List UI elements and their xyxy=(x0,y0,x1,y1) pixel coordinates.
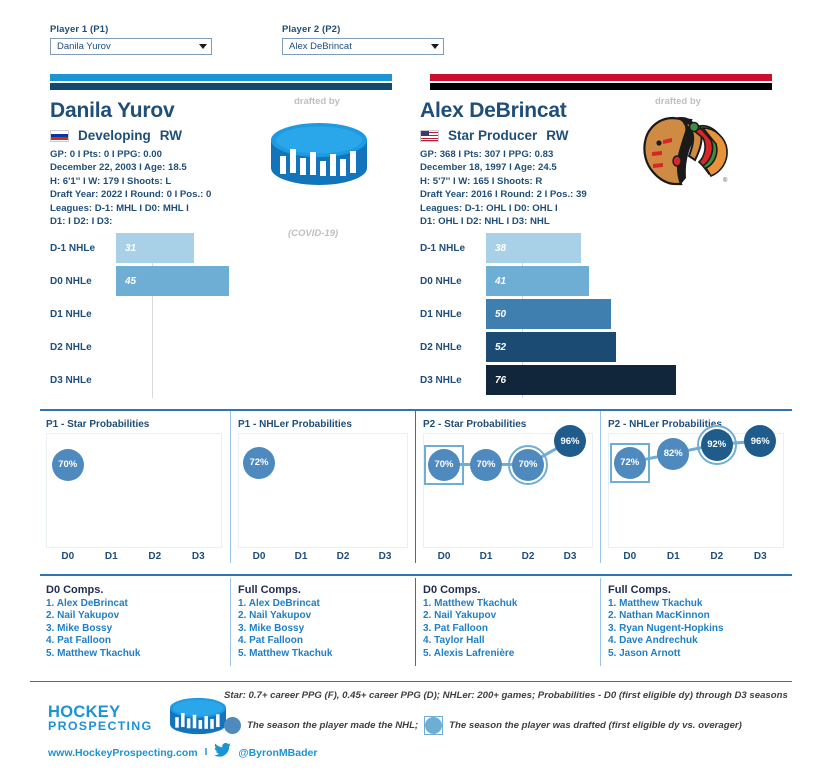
panel-divider xyxy=(230,411,231,563)
comps-column: Full Comps.1. Matthew Tkachuk2. Nathan M… xyxy=(608,584,784,660)
axis-tick-label: D1 xyxy=(465,551,507,562)
player-1-gp-line: GP: 0 I Pts: 0 I PPG: 0.00 xyxy=(50,148,211,161)
prob-panel-title: P1 - NHLer Probabilities xyxy=(238,419,352,430)
nhle-bar-label: D-1 NHLe xyxy=(50,243,116,254)
marker-legend: The season the player made the NHL; The … xyxy=(224,716,742,735)
nhle-bar-value: 76 xyxy=(486,375,506,386)
player-2-label: Player 2 (P2) xyxy=(282,24,444,35)
nhle-bar-row: D0 NHLe45 xyxy=(50,266,380,296)
panel-divider-main xyxy=(415,411,416,563)
comps-heading: D0 Comps. xyxy=(423,584,593,596)
axis-tick-label: D2 xyxy=(695,551,739,562)
player-2-select-value: Alex DeBrincat xyxy=(289,41,352,52)
player-2-leagues-line-2: D1: OHL I D2: NHL I D3: NHL xyxy=(420,215,587,228)
player-1-status-badge: Developing xyxy=(78,128,151,143)
nhle-bar: 38 xyxy=(486,233,581,263)
chicago-blackhawks-logo-icon: ® xyxy=(633,112,733,199)
nhle-bar-track xyxy=(116,365,380,395)
player-2-stats: GP: 368 I Pts: 307 I PPG: 0.83 December … xyxy=(420,148,587,228)
axis-tick-label: D3 xyxy=(177,551,221,562)
comps-list-item[interactable]: 2. Nathan MacKinnon xyxy=(608,610,784,622)
nhle-bar-row: D1 NHLe50 xyxy=(420,299,760,329)
player-2-leagues-line-1: Leagues: D-1: OHL I D0: OHL I xyxy=(420,202,587,215)
nhle-bar-track xyxy=(116,299,380,329)
prob-marker[interactable]: 70% xyxy=(512,449,544,481)
comps-divider xyxy=(230,578,231,666)
team-color-bars xyxy=(50,74,772,90)
comps-list-item[interactable]: 1. Matthew Tkachuk xyxy=(423,598,593,610)
player-2-selector-block: Player 2 (P2) Alex DeBrincat xyxy=(282,24,444,55)
nhle-bar-value: 50 xyxy=(486,309,506,320)
nhle-bar-track: 50 xyxy=(486,299,760,329)
nhle-bar-value: 45 xyxy=(116,276,136,287)
player-2-nhle-chart: D-1 NHLe38D0 NHLe41D1 NHLe50D2 NHLe52D3 … xyxy=(420,233,760,398)
nhle-bar-label: D0 NHLe xyxy=(50,276,116,287)
player-1-draft-line: Draft Year: 2022 I Round: 0 I Pos.: 0 xyxy=(50,188,211,201)
footer-rule xyxy=(30,681,792,682)
player-2-birth-line: December 18, 1997 I Age: 24.5 xyxy=(420,161,587,174)
nhle-bar-row: D2 NHLe52 xyxy=(420,332,760,362)
prob-marker[interactable]: 72% xyxy=(243,447,275,479)
nhle-bar-track: 41 xyxy=(486,266,760,296)
nhle-bar: 45 xyxy=(116,266,229,296)
comps-list-item[interactable]: 3. Mike Bossy xyxy=(238,623,408,635)
axis-tick-label: D0 xyxy=(238,551,280,562)
comps-column: Full Comps.1. Alex DeBrincat2. Nail Yaku… xyxy=(238,584,408,660)
player-1-name: Danila Yurov xyxy=(50,100,211,121)
player-1-label: Player 1 (P1) xyxy=(50,24,212,35)
player-1-select[interactable]: Danila Yurov xyxy=(50,38,212,55)
comps-list-item[interactable]: 4. Dave Andrechuk xyxy=(608,635,784,647)
axis-tick-label: D1 xyxy=(652,551,696,562)
comps-list-item[interactable]: 3. Ryan Nugent-Hopkins xyxy=(608,623,784,635)
player-1-leagues-line-1: Leagues: D-1: MHL I D0: MHL I xyxy=(50,202,211,215)
player-1-leagues-line-2: D1: I D2: I D3: xyxy=(50,215,211,228)
logo-line-2: PROSPECTING xyxy=(48,720,153,733)
nhle-bar-row: D3 NHLe76 xyxy=(420,365,760,395)
nhle-bar-track: 76 xyxy=(486,365,760,395)
nhle-bar-label: D1 NHLe xyxy=(420,309,486,320)
player-2-team-colorbar xyxy=(430,74,772,90)
chevron-down-icon xyxy=(199,44,207,49)
svg-text:®: ® xyxy=(723,177,728,184)
prob-marker[interactable]: 96% xyxy=(554,425,586,457)
nhle-bar-label: D0 NHLe xyxy=(420,276,486,287)
comps-divider xyxy=(600,578,601,666)
player-1-nhle-chart: D-1 NHLe31D0 NHLe45D1 NHLeD2 NHLeD3 NHLe xyxy=(50,233,380,398)
twitter-icon xyxy=(214,743,231,762)
nhle-bar-value: 38 xyxy=(486,243,506,254)
player-2-select[interactable]: Alex DeBrincat xyxy=(282,38,444,55)
player-1-tag-row: Developing RW xyxy=(50,128,211,143)
prob-marker[interactable]: 70% xyxy=(428,449,460,481)
comps-list-item[interactable]: 4. Pat Falloon xyxy=(238,635,408,647)
player-1-stats: GP: 0 I Pts: 0 I PPG: 0.00 December 22, … xyxy=(50,148,211,228)
nhle-bar-track: 52 xyxy=(486,332,760,362)
comps-list-item[interactable]: 5. Matthew Tkachuk xyxy=(238,648,408,660)
player-1-birth-line: December 22, 2003 I Age: 18.5 xyxy=(50,161,211,174)
comps-list-item[interactable]: 3. Pat Falloon xyxy=(423,623,593,635)
nhle-bar: 50 xyxy=(486,299,611,329)
nhle-bar-row: D3 NHLe xyxy=(50,365,380,395)
prob-marker[interactable]: 72% xyxy=(614,447,646,479)
comps-list-item[interactable]: 4. Taylor Hall xyxy=(423,635,593,647)
prob-marker[interactable]: 92% xyxy=(701,429,733,461)
nhle-bar-row: D-1 NHLe38 xyxy=(420,233,760,263)
nhle-bar-label: D-1 NHLe xyxy=(420,243,486,254)
nhle-bar: 76 xyxy=(486,365,676,395)
comps-section-top-rule xyxy=(40,574,792,576)
footer-links: www.HockeyProspecting.com I @ByronMBader xyxy=(48,743,317,762)
draft-season-marker-icon xyxy=(424,716,443,735)
axis-tick-label: D2 xyxy=(507,551,549,562)
hockey-prospecting-puck-icon xyxy=(263,118,375,195)
definition-text: Star: 0.7+ career PPG (F), 0.45+ career … xyxy=(224,690,788,701)
axis-tick-label: D2 xyxy=(322,551,364,562)
russia-flag-icon xyxy=(50,130,69,142)
player-2-position: RW xyxy=(546,128,568,143)
comps-list-item[interactable]: 5. Jason Arnott xyxy=(608,648,784,660)
comps-heading: Full Comps. xyxy=(238,584,408,596)
axis-tick-label: D0 xyxy=(423,551,465,562)
player-2-gp-line: GP: 368 I Pts: 307 I PPG: 0.83 xyxy=(420,148,587,161)
nhle-bar-row: D1 NHLe xyxy=(50,299,380,329)
prob-panel-title: P1 - Star Probabilities xyxy=(46,419,149,430)
prob-panel-title: P2 - Star Probabilities xyxy=(423,419,526,430)
nhle-bar: 41 xyxy=(486,266,589,296)
nhle-bar-row: D-1 NHLe31 xyxy=(50,233,380,263)
player-1-selector-block: Player 1 (P1) Danila Yurov xyxy=(50,24,212,55)
comps-list-item[interactable]: 1. Alex DeBrincat xyxy=(46,598,222,610)
nhle-bar-label: D2 NHLe xyxy=(50,342,116,353)
prob-axis-ticks: D0D1D2D3 xyxy=(46,551,220,562)
nhl-season-marker-icon xyxy=(224,717,241,734)
player-2-draft-line: Draft Year: 2016 I Round: 2 I Pos.: 39 xyxy=(420,188,587,201)
player-1-position: RW xyxy=(160,128,182,143)
nhle-bar-label: D3 NHLe xyxy=(420,375,486,386)
hockey-prospecting-logo: HOCKEY PROSPECTING xyxy=(48,695,233,742)
nhle-bar-track: 31 xyxy=(116,233,380,263)
twitter-handle-link[interactable]: @ByronMBader xyxy=(238,747,317,759)
player-2-name: Alex DeBrincat xyxy=(420,100,587,121)
nhle-bar: 31 xyxy=(116,233,194,263)
legend-draft-text: The season the player was drafted (first… xyxy=(449,720,742,731)
comps-divider-main xyxy=(415,578,416,666)
usa-flag-icon xyxy=(420,130,439,142)
legend-nhl-text: The season the player made the NHL; xyxy=(247,720,418,731)
nhle-bar-label: D3 NHLe xyxy=(50,375,116,386)
nhle-bar-row: D0 NHLe41 xyxy=(420,266,760,296)
player-selector-row: Player 1 (P1) Danila Yurov Player 2 (P2)… xyxy=(50,24,444,55)
player-2-size-line: H: 5'7'' I W: 165 I Shoots: R xyxy=(420,175,587,188)
player-1-select-value: Danila Yurov xyxy=(57,41,111,52)
prob-axis-ticks: D0D1D2D3 xyxy=(608,551,782,562)
panel-divider xyxy=(600,411,601,563)
comps-list-item[interactable]: 4. Pat Falloon xyxy=(46,635,222,647)
website-link[interactable]: www.HockeyProspecting.com xyxy=(48,747,198,759)
axis-tick-label: D3 xyxy=(739,551,783,562)
player-2-drafted-by-label: drafted by xyxy=(655,96,701,107)
axis-tick-label: D2 xyxy=(133,551,177,562)
nhle-bar-value: 41 xyxy=(486,276,506,287)
nhle-bar: 52 xyxy=(486,332,616,362)
comps-heading: D0 Comps. xyxy=(46,584,222,596)
comps-list-item[interactable]: 5. Alexis Lafrenière xyxy=(423,648,593,660)
footer-puck-icon xyxy=(163,695,233,742)
comps-heading: Full Comps. xyxy=(608,584,784,596)
prob-axis-ticks: D0D1D2D3 xyxy=(238,551,406,562)
player-1-size-line: H: 6'1'' I W: 179 I Shoots: L xyxy=(50,175,211,188)
player-2-tag-row: Star Producer RW xyxy=(420,128,587,143)
prob-axis-ticks: D0D1D2D3 xyxy=(423,551,591,562)
nhle-bar-value: 31 xyxy=(116,243,136,254)
logo-line-1: HOCKEY xyxy=(48,704,153,720)
comps-list-item[interactable]: 2. Nail Yakupov xyxy=(423,610,593,622)
axis-tick-label: D1 xyxy=(90,551,134,562)
comps-column: D0 Comps.1. Alex DeBrincat2. Nail Yakupo… xyxy=(46,584,222,660)
nhle-bar-label: D1 NHLe xyxy=(50,309,116,320)
axis-tick-label: D3 xyxy=(549,551,591,562)
nhle-bar-track: 45 xyxy=(116,266,380,296)
player-1-drafted-by-label: drafted by xyxy=(294,96,340,107)
nhle-bar-value: 52 xyxy=(486,342,506,353)
axis-tick-label: D0 xyxy=(46,551,90,562)
nhle-bar-track: 38 xyxy=(486,233,760,263)
axis-tick-label: D0 xyxy=(608,551,652,562)
prob-marker[interactable]: 82% xyxy=(657,438,689,470)
comps-list-item[interactable]: 5. Matthew Tkachuk xyxy=(46,648,222,660)
axis-tick-label: D3 xyxy=(364,551,406,562)
nhle-bar-track xyxy=(116,332,380,362)
prob-marker[interactable]: 70% xyxy=(52,449,84,481)
comps-list-item[interactable]: 3. Mike Bossy xyxy=(46,623,222,635)
comps-list-item[interactable]: 2. Nail Yakupov xyxy=(238,610,408,622)
player-1-info: Danila Yurov Developing RW GP: 0 I Pts: … xyxy=(50,100,211,228)
comps-column: D0 Comps.1. Matthew Tkachuk2. Nail Yakup… xyxy=(423,584,593,660)
comps-list-item[interactable]: 1. Matthew Tkachuk xyxy=(608,598,784,610)
player-2-info: Alex DeBrincat Star Producer RW GP: 368 … xyxy=(420,100,587,228)
axis-tick-label: D1 xyxy=(280,551,322,562)
nhle-bar-row: D2 NHLe xyxy=(50,332,380,362)
footer-separator: I xyxy=(205,747,208,758)
player-1-team-colorbar xyxy=(50,74,392,90)
chevron-down-icon xyxy=(431,44,439,49)
comps-list-item[interactable]: 1. Alex DeBrincat xyxy=(238,598,408,610)
prob-marker[interactable]: 70% xyxy=(470,449,502,481)
comps-list-item[interactable]: 2. Nail Yakupov xyxy=(46,610,222,622)
player-2-status-badge: Star Producer xyxy=(448,128,537,143)
nhle-bar-label: D2 NHLe xyxy=(420,342,486,353)
